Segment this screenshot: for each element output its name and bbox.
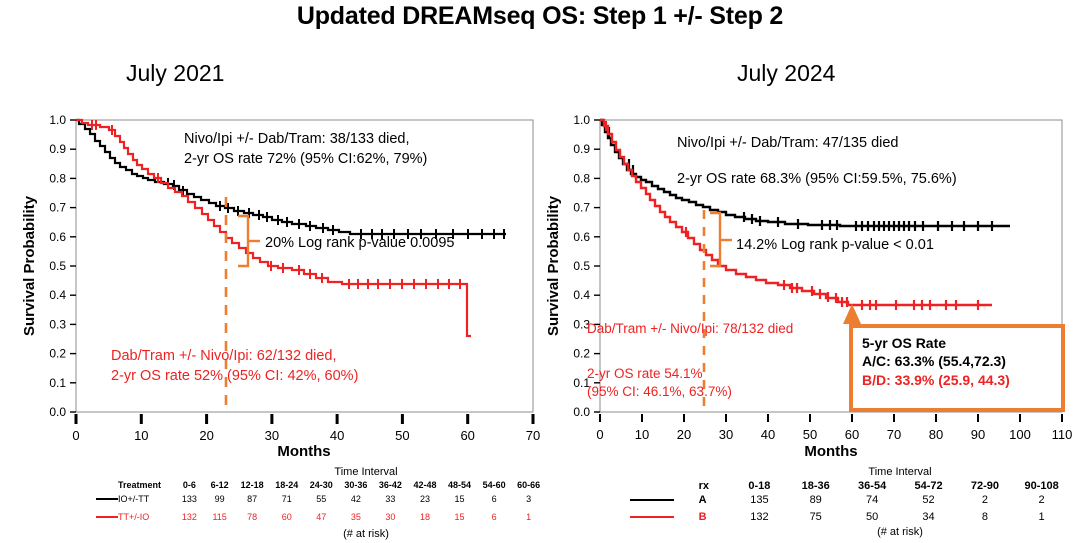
left-risk-row-tt: TT+/-IO 132 115 78 60 47 35 30 18 15 6 1 (96, 507, 546, 526)
right-col-5: 90-108 (1013, 480, 1070, 492)
svg-text:110: 110 (1052, 427, 1073, 442)
left-y-ticks (70, 120, 76, 412)
svg-text:30: 30 (265, 428, 279, 443)
right-at-risk-caption: (# at risk) (760, 526, 1040, 538)
right-black-annotation-1: Nivo/Ipi +/- Dab/Tram: 47/135 died (677, 135, 899, 151)
left-risk-header-row: Treatment 0-6 6-12 12-18 18-24 24-30 30-… (96, 480, 546, 490)
svg-text:1.0: 1.0 (573, 113, 590, 127)
svg-text:0.4: 0.4 (49, 288, 66, 302)
left-x-tick-labels: 0 10 20 30 40 50 60 70 (72, 428, 540, 443)
right-panel-date: July 2024 (737, 60, 835, 87)
svg-text:0.9: 0.9 (49, 142, 66, 156)
right-col-4: 72-90 (957, 480, 1013, 492)
right-row1-v4: 8 (957, 508, 1013, 526)
right-col-2: 36-54 (844, 480, 900, 492)
svg-text:60: 60 (845, 427, 859, 442)
svg-text:0.0: 0.0 (49, 405, 66, 419)
callout-row-a: A/C: 63.3% (55.4,72.3) (862, 352, 1052, 370)
svg-text:50: 50 (803, 427, 817, 442)
svg-text:0.8: 0.8 (573, 171, 590, 185)
left-col-1: 6-12 (204, 480, 234, 490)
left-row1-v2: 78 (235, 507, 270, 526)
svg-text:0.7: 0.7 (573, 201, 590, 215)
svg-text:0.4: 0.4 (573, 288, 590, 302)
callout-title: 5-yr OS Rate (862, 334, 1052, 352)
svg-text:0.9: 0.9 (573, 142, 590, 156)
right-row0-v4: 2 (957, 492, 1013, 508)
right-row1-v2: 50 (844, 508, 900, 526)
left-row1-v0: 132 (174, 507, 204, 526)
svg-text:10: 10 (635, 427, 649, 442)
svg-text:40: 40 (761, 427, 775, 442)
svg-text:0.5: 0.5 (573, 259, 590, 273)
right-row0-v1: 89 (787, 492, 843, 508)
left-x-axis-title: Months (277, 443, 330, 457)
left-legend-swatch-header (96, 480, 118, 490)
legend-line-icon (630, 499, 674, 501)
legend-line-icon (630, 516, 674, 518)
left-row1-v6: 30 (373, 507, 408, 526)
left-row1-v8: 15 (442, 507, 477, 526)
right-row0-v3: 52 (900, 492, 956, 508)
left-red-annotation: Dab/Tram +/- Nivo/Ipi: 62/132 died, 2-yr… (111, 347, 358, 386)
left-risk-row-io: IO+/-TT 133 99 87 71 55 42 33 23 15 6 3 (96, 490, 546, 507)
left-y-tick-labels: 1.0 0.9 0.8 0.7 0.6 0.5 0.4 0.3 0.2 0.1 … (49, 113, 66, 419)
left-row0-label: IO+/-TT (118, 490, 174, 507)
svg-text:0.6: 0.6 (573, 230, 590, 244)
right-row0-label: A (699, 492, 732, 508)
callout-row-b: B/D: 33.9% (25.9, 44.3) (862, 371, 1052, 389)
left-legend-line-black (96, 490, 118, 507)
svg-text:30: 30 (719, 427, 733, 442)
left-time-interval-caption: Time Interval (216, 466, 516, 478)
right-x-axis-title: Months (804, 443, 857, 457)
right-col-1: 18-36 (787, 480, 843, 492)
left-col-7: 42-48 (408, 480, 443, 490)
right-risk-header-row: rx 0-18 18-36 36-54 54-72 72-90 90-108 (630, 480, 1070, 492)
right-red-annotation-1: Dab/Tram +/- Nivo/Ipi: 78/132 died (587, 321, 793, 336)
svg-text:10: 10 (134, 428, 148, 443)
left-col-3: 18-24 (269, 480, 304, 490)
right-y-axis-title: Survival Probability (545, 195, 562, 336)
svg-text:0: 0 (596, 427, 603, 442)
left-row0-v1: 99 (204, 490, 234, 507)
five-year-os-callout: 5-yr OS Rate A/C: 63.3% (55.4,72.3) B/D:… (849, 324, 1065, 412)
right-row1-v3: 34 (900, 508, 956, 526)
left-row1-v4: 47 (304, 507, 339, 526)
left-row0-v5: 42 (339, 490, 374, 507)
right-black-annotation-2: 2-yr OS rate 68.3% (95% CI:59.5%, 75.6%) (677, 171, 957, 187)
right-row1-label: B (699, 508, 732, 526)
left-at-risk-caption: (# at risk) (216, 528, 516, 540)
right-row0-v2: 74 (844, 492, 900, 508)
svg-text:80: 80 (929, 427, 943, 442)
left-row1-label: TT+/-IO (118, 507, 174, 526)
svg-text:0: 0 (72, 428, 79, 443)
svg-text:20: 20 (199, 428, 213, 443)
right-row1-v0: 132 (731, 508, 787, 526)
svg-text:1.0: 1.0 (49, 113, 66, 127)
right-x-ticks (600, 414, 1062, 422)
left-logrank-annotation: 20% Log rank p-value 0.0095 (265, 235, 454, 251)
right-time-interval-caption: Time Interval (760, 466, 1040, 478)
left-panel-date: July 2021 (126, 60, 224, 87)
right-col-0: 0-18 (731, 480, 787, 492)
left-risk-table: Treatment 0-6 6-12 12-18 18-24 24-30 30-… (96, 480, 546, 526)
left-col-4: 24-30 (304, 480, 339, 490)
svg-text:0.0: 0.0 (573, 405, 590, 419)
right-logrank-annotation: 14.2% Log rank p-value < 0.01 (736, 237, 934, 253)
svg-text:70: 70 (526, 428, 540, 443)
left-row1-v7: 18 (408, 507, 443, 526)
left-col-6: 36-42 (373, 480, 408, 490)
right-x-tick-labels: 0 10 20 30 40 50 60 70 80 90 100 110 (596, 427, 1072, 442)
svg-text:50: 50 (395, 428, 409, 443)
svg-text:0.5: 0.5 (49, 259, 66, 273)
left-y-axis-title: Survival Probability (21, 195, 38, 336)
legend-line-icon (96, 516, 118, 518)
right-legend-line-black (630, 492, 699, 508)
left-x-ticks (76, 414, 533, 424)
left-row0-v4: 55 (304, 490, 339, 507)
right-legend-swatch-header (630, 480, 699, 492)
right-risk-row-b: B 132 75 50 34 8 1 (630, 508, 1070, 526)
left-black-annotation: Nivo/Ipi +/- Dab/Tram: 38/133 died, 2-yr… (184, 130, 427, 169)
left-col-2: 12-18 (235, 480, 270, 490)
right-col-3: 54-72 (900, 480, 956, 492)
svg-text:0.2: 0.2 (573, 347, 590, 361)
svg-text:100: 100 (1009, 427, 1031, 442)
left-row0-v3: 71 (269, 490, 304, 507)
svg-text:0.1: 0.1 (49, 376, 66, 390)
svg-text:0.3: 0.3 (49, 317, 66, 331)
left-row0-v7: 23 (408, 490, 443, 507)
svg-text:70: 70 (887, 427, 901, 442)
left-row0-v6: 33 (373, 490, 408, 507)
right-row0-v5: 2 (1013, 492, 1070, 508)
legend-line-icon (96, 498, 118, 500)
right-row1-v5: 1 (1013, 508, 1070, 526)
right-red-annotation-2: 2-yr OS rate 54.1% (95% CI: 46.1%, 63.7%… (587, 365, 732, 400)
right-legend-line-red (630, 508, 699, 526)
svg-text:60: 60 (460, 428, 474, 443)
svg-text:20: 20 (677, 427, 691, 442)
left-row0-v9: 6 (477, 490, 512, 507)
left-row0-v8: 15 (442, 490, 477, 507)
svg-text:0.2: 0.2 (49, 347, 66, 361)
left-row1-v1: 115 (204, 507, 234, 526)
right-row1-v1: 75 (787, 508, 843, 526)
left-col-8: 48-54 (442, 480, 477, 490)
left-col-9: 54-60 (477, 480, 512, 490)
left-row1-v5: 35 (339, 507, 374, 526)
page-title: Updated DREAMseq OS: Step 1 +/- Step 2 (0, 2, 1080, 31)
left-col-0: 0-6 (174, 480, 204, 490)
right-risk-table: rx 0-18 18-36 36-54 54-72 72-90 90-108 A… (630, 480, 1070, 526)
left-col-5: 30-36 (339, 480, 374, 490)
left-row0-v2: 87 (235, 490, 270, 507)
svg-text:40: 40 (330, 428, 344, 443)
slide-root: Updated DREAMseq OS: Step 1 +/- Step 2 J… (0, 0, 1080, 543)
right-risk-row-a: A 135 89 74 52 2 2 (630, 492, 1070, 508)
svg-text:0.7: 0.7 (49, 201, 66, 215)
svg-text:0.6: 0.6 (49, 230, 66, 244)
svg-text:90: 90 (971, 427, 985, 442)
svg-text:0.8: 0.8 (49, 171, 66, 185)
left-row1-v3: 60 (269, 507, 304, 526)
left-row1-v9: 6 (477, 507, 512, 526)
left-group-header: Treatment (118, 480, 174, 490)
right-group-header: rx (699, 480, 732, 492)
left-row0-v0: 133 (174, 490, 204, 507)
right-row0-v0: 135 (731, 492, 787, 508)
left-legend-line-red (96, 507, 118, 526)
